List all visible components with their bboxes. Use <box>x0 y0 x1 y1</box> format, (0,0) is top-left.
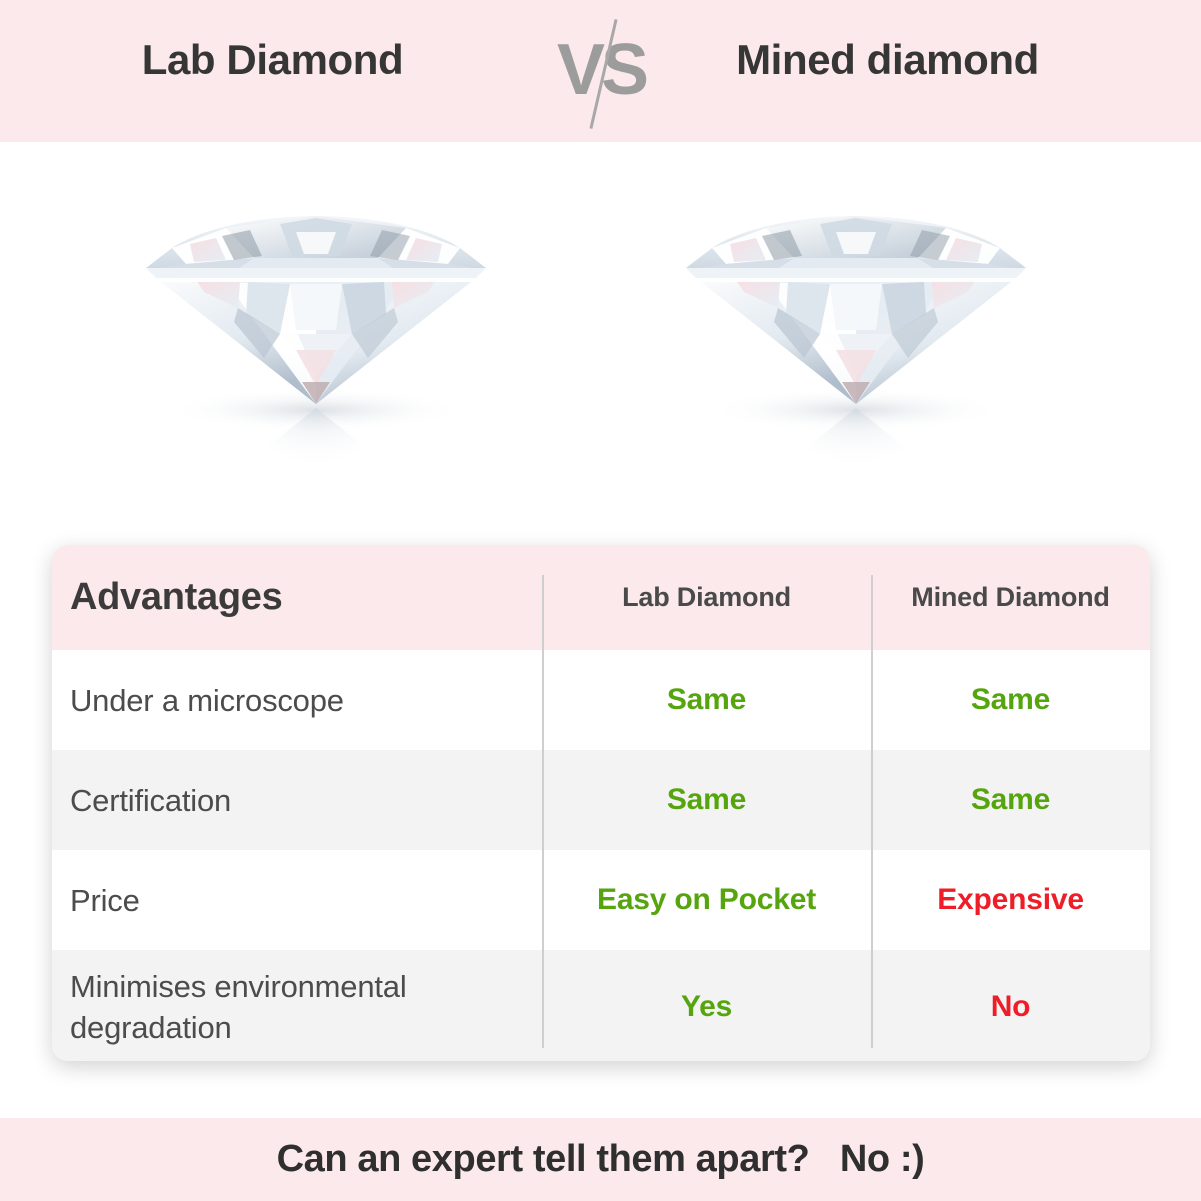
row-value-lab: Same <box>542 683 871 717</box>
row-label: Under a microscope <box>52 680 542 721</box>
row-value-mined: Same <box>871 683 1150 717</box>
table-row: Minimises environmental degradation Yes … <box>52 950 1150 1061</box>
header-left-title: Lab Diamond <box>0 36 545 84</box>
column-divider-second <box>871 575 873 1048</box>
table-row: Certification Same Same <box>52 750 1150 850</box>
column-divider-first <box>542 575 544 1048</box>
diamond-illustration <box>670 172 1042 472</box>
table-header-row: Advantages Lab Diamond Mined Diamond <box>52 545 1150 650</box>
row-label: Price <box>52 880 542 921</box>
table-row: Price Easy on Pocket Expensive <box>52 850 1150 950</box>
row-label: Certification <box>52 780 542 821</box>
footer-question: Can an expert tell them apart? No :) <box>277 1138 925 1181</box>
row-value-lab: Yes <box>542 990 871 1024</box>
header-band: Lab Diamond VS Mined diamond <box>0 0 1201 142</box>
lab-diamond-image <box>130 172 502 472</box>
column-header-lab-diamond: Lab Diamond <box>542 582 871 613</box>
versus-text: VS <box>546 26 656 114</box>
diamond-illustration <box>130 172 502 472</box>
row-value-mined: Expensive <box>871 883 1150 917</box>
diamond-images-area <box>0 142 1201 532</box>
column-header-advantages: Advantages <box>52 576 542 619</box>
row-value-mined: Same <box>871 783 1150 817</box>
footer-band: Can an expert tell them apart? No :) <box>0 1118 1201 1201</box>
versus-badge: VS <box>546 18 656 130</box>
mined-diamond-image <box>670 172 1042 472</box>
row-label: Minimises environmental degradation <box>52 966 542 1048</box>
comparison-table: Advantages Lab Diamond Mined Diamond Und… <box>52 545 1150 1061</box>
row-value-lab: Same <box>542 783 871 817</box>
column-header-mined-diamond: Mined Diamond <box>871 582 1150 613</box>
comparison-table-card: Advantages Lab Diamond Mined Diamond Und… <box>52 545 1150 1061</box>
row-value-mined: No <box>871 990 1150 1024</box>
row-value-lab: Easy on Pocket <box>542 883 871 917</box>
table-row: Under a microscope Same Same <box>52 650 1150 750</box>
header-right-title: Mined diamond <box>655 36 1120 84</box>
